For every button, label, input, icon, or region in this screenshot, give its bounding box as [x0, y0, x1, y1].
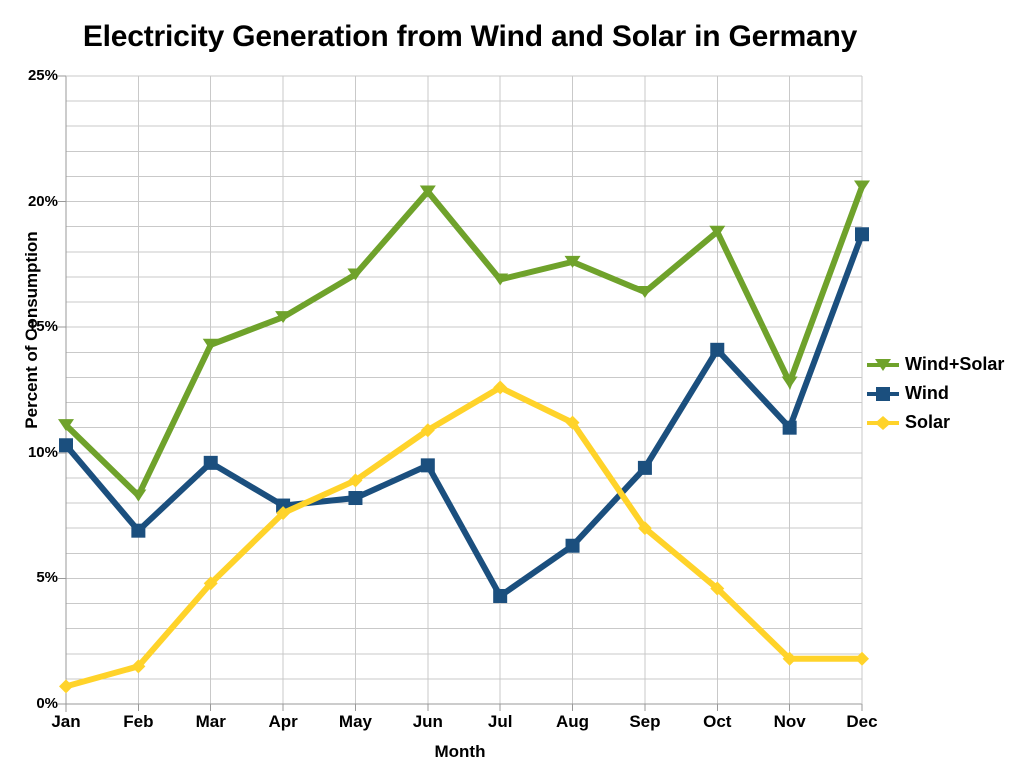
- chart-container: Electricity Generation from Wind and Sol…: [0, 0, 1024, 768]
- legend-swatch-square-icon: [866, 383, 900, 405]
- x-tick-label: Jun: [388, 712, 468, 732]
- y-tick-label: 0%: [0, 695, 58, 712]
- x-tick-label: Jan: [26, 712, 106, 732]
- x-tick-label: Feb: [98, 712, 178, 732]
- y-tick-label: 25%: [0, 67, 58, 84]
- series-wind-plus-solar: [58, 181, 870, 502]
- x-tick-label: Mar: [171, 712, 251, 732]
- y-tick-label: 5%: [0, 569, 58, 586]
- y-tick-label: 20%: [0, 193, 58, 210]
- legend-item[interactable]: Wind: [866, 379, 1004, 408]
- x-tick-label: Oct: [677, 712, 757, 732]
- x-tick-label: Dec: [822, 712, 902, 732]
- legend-item-label: Wind+Solar: [905, 354, 1004, 375]
- series-wind: [59, 227, 869, 603]
- x-tick-label: Jul: [460, 712, 540, 732]
- legend-swatch-diamond-icon: [866, 412, 900, 434]
- x-tick-label: May: [315, 712, 395, 732]
- y-tick-label: 10%: [0, 444, 58, 461]
- legend-item-label: Wind: [905, 383, 949, 404]
- y-tick-label: 15%: [0, 318, 58, 335]
- legend-item[interactable]: Solar: [866, 408, 1004, 437]
- x-tick-label: Aug: [533, 712, 613, 732]
- legend-swatch-triangle-down-icon: [866, 354, 900, 376]
- x-tick-label: Sep: [605, 712, 685, 732]
- series-lines: [58, 181, 870, 694]
- x-tick-label: Nov: [750, 712, 830, 732]
- legend-item-label: Solar: [905, 412, 950, 433]
- legend-item[interactable]: Wind+Solar: [866, 350, 1004, 379]
- x-tick-label: Apr: [243, 712, 323, 732]
- chart-legend: Wind+SolarWindSolar: [866, 350, 1004, 437]
